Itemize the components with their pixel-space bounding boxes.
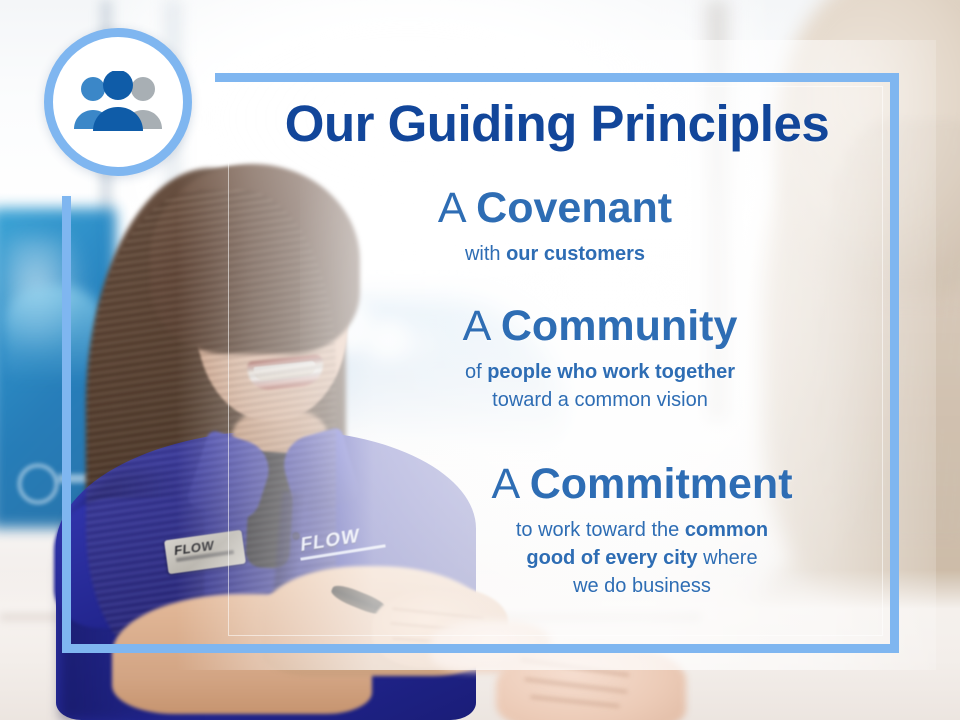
body-segment: of [465, 361, 487, 383]
body-segment: with [465, 243, 506, 265]
body-segment: toward a common vision [492, 389, 708, 411]
principle-community: A Community of people who work together … [300, 304, 900, 414]
principle-keyword: Covenant [476, 184, 672, 232]
principle-body-line: good of every city where [342, 544, 942, 572]
principle-keyword: Commitment [530, 460, 793, 508]
principle-article: A [438, 184, 476, 232]
body-segment: good of every city [526, 547, 697, 569]
principle-article: A [491, 460, 529, 508]
principle-body: of people who work together toward a com… [300, 358, 900, 415]
principle-body-line: to work toward the common [342, 516, 942, 544]
body-segment: our customers [506, 243, 645, 265]
principle-article: A [463, 302, 501, 350]
principle-body: with our customers [255, 240, 855, 268]
principle-body: to work toward the common good of every … [342, 516, 942, 601]
principle-body-line: with our customers [255, 240, 855, 268]
body-segment: where [698, 547, 758, 569]
principle-body-line: of people who work together [300, 358, 900, 386]
guiding-principles-poster: FLOW FLOW [0, 0, 960, 720]
principle-body-line: toward a common vision [300, 386, 900, 414]
page-title: Our Guiding Principles [215, 94, 899, 153]
principle-keyword: Community [501, 302, 738, 350]
principle-heading: A Covenant [255, 186, 855, 232]
body-segment: to work toward the [516, 519, 685, 541]
principle-body-line: we do business [342, 572, 942, 600]
principle-commitment: A Commitment to work toward the common g… [342, 462, 942, 601]
body-segment: common [685, 519, 768, 541]
principle-heading: A Commitment [342, 462, 942, 508]
body-segment: people who work together [487, 361, 735, 383]
principle-covenant: A Covenant with our customers [255, 186, 855, 268]
principle-heading: A Community [300, 304, 900, 350]
poster-content: Our Guiding Principles A Covenant with o… [0, 0, 960, 720]
body-segment: we do business [573, 575, 711, 597]
